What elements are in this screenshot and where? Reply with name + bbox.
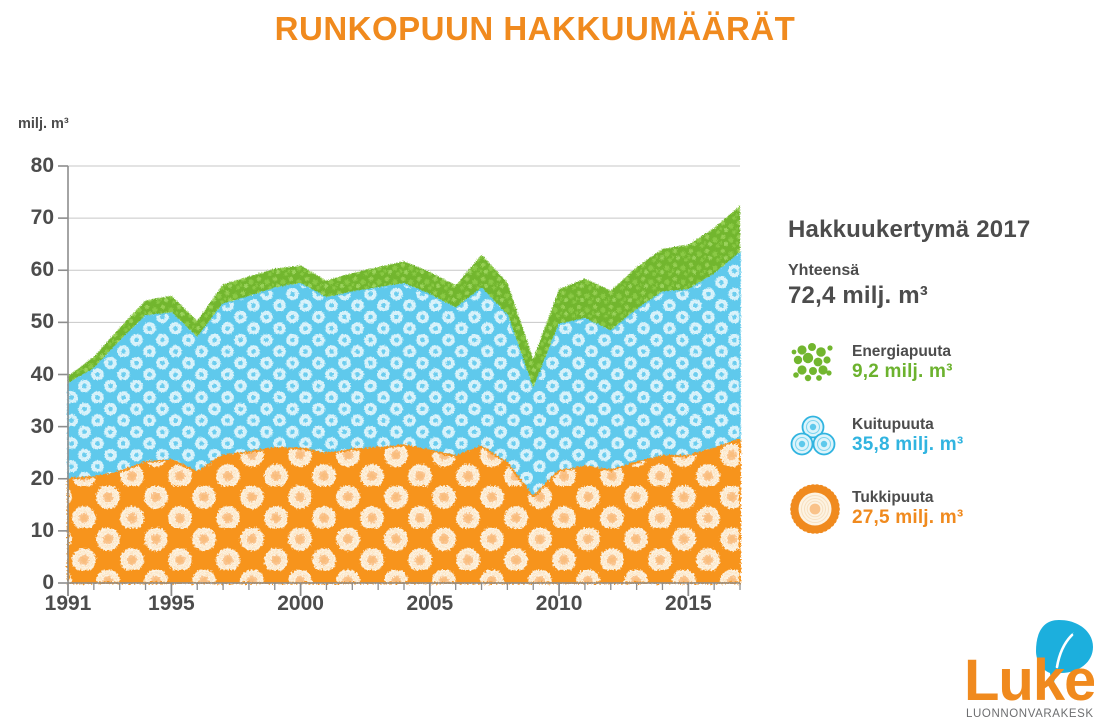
y-tick-label-60: 60 — [10, 259, 54, 280]
wood-chips-icon — [788, 336, 842, 390]
y-tick-label-30: 30 — [10, 416, 54, 437]
logo-wordmark: Luke — [964, 648, 1094, 713]
total-label: Yhteensä — [788, 262, 1088, 280]
total-block: Yhteensä 72,4 milj. m³ — [788, 262, 1088, 310]
legend-value-tukkipuuta: 27,5 milj. m³ — [852, 507, 963, 529]
three-logs-icon — [788, 409, 842, 463]
x-tick-label-2015: 2015 — [665, 592, 712, 616]
legend-item-tukkipuuta[interactable]: Tukkipuuta 27,5 milj. m³ — [788, 482, 1088, 536]
legend-label-energiapuuta: Energiapuuta — [852, 343, 953, 361]
summary-panel: Hakkuukertymä 2017 Yhteensä 72,4 milj. m… — [788, 216, 1088, 555]
x-tick-label-1991: 1991 — [45, 592, 92, 616]
y-axis-ticks — [58, 166, 68, 583]
legend-label-tukkipuuta: Tukkipuuta — [852, 489, 963, 507]
stacked-area-chart — [0, 150, 770, 600]
legend-text-tukkipuuta: Tukkipuuta 27,5 milj. m³ — [852, 489, 963, 530]
legend-item-kuitupuuta[interactable]: Kuitupuuta 35,8 milj. m³ — [788, 409, 1088, 463]
x-tick-label-2000: 2000 — [277, 592, 324, 616]
panel-heading: Hakkuukertymä 2017 — [788, 216, 1088, 244]
y-tick-label-80: 80 — [10, 155, 54, 176]
x-tick-label-2005: 2005 — [406, 592, 453, 616]
y-tick-label-70: 70 — [10, 207, 54, 228]
y-tick-label-20: 20 — [10, 468, 54, 489]
logo-subtitle: LUONNONVARAKESKUS — [966, 708, 1094, 720]
y-tick-label-0: 0 — [10, 572, 54, 593]
legend-value-energiapuuta: 9,2 milj. m³ — [852, 361, 953, 383]
total-value: 72,4 milj. m³ — [788, 282, 1088, 310]
x-tick-label-2010: 2010 — [536, 592, 583, 616]
legend-label-kuitupuuta: Kuitupuuta — [852, 416, 963, 434]
luke-logo: Luke LUONNONVARAKESKUS — [962, 618, 1094, 722]
legend-item-energiapuuta[interactable]: Energiapuuta 9,2 milj. m³ — [788, 336, 1088, 390]
legend-text-kuitupuuta: Kuitupuuta 35,8 milj. m³ — [852, 416, 963, 457]
legend-value-kuitupuuta: 35,8 milj. m³ — [852, 434, 963, 456]
y-tick-label-50: 50 — [10, 311, 54, 332]
log-end-icon — [788, 482, 842, 536]
series-band-tukkipuuta — [68, 440, 740, 583]
x-tick-label-1995: 1995 — [148, 592, 195, 616]
y-tick-label-10: 10 — [10, 520, 54, 541]
page-title: RUNKOPUUN HAKKUUMÄÄRÄT — [0, 10, 1070, 48]
y-axis-unit-label: milj. m³ — [18, 116, 69, 132]
legend-text-energiapuuta: Energiapuuta 9,2 milj. m³ — [852, 343, 953, 384]
y-tick-label-40: 40 — [10, 364, 54, 385]
chart-canvas — [0, 150, 770, 600]
